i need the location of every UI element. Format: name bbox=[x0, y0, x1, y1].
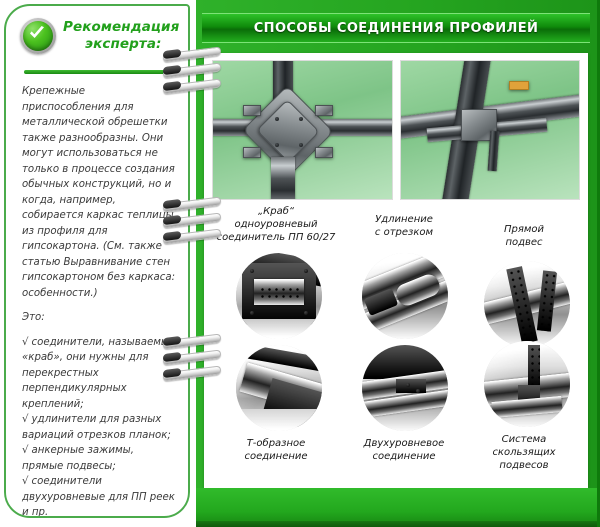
photo-strip bbox=[212, 60, 580, 200]
list-item-text: соединители, называемые «краб», они нужн… bbox=[22, 337, 175, 410]
list-item: √анкерные зажимы, прямые подвесы; bbox=[22, 443, 176, 474]
connection-types-grid: „Краб“ одноуровневый соединитель ПП 60/2… bbox=[204, 205, 588, 488]
panel-title: Рекомендация эксперта: bbox=[63, 16, 179, 53]
grid-item-pryamoy-podves: Прямой подвес bbox=[460, 205, 588, 345]
list-item-text: соединители двухуровневые для ПП реек и … bbox=[22, 476, 175, 518]
spiral-ring bbox=[163, 353, 221, 362]
panel-title-line1: Рекомендация bbox=[63, 19, 179, 36]
spiral-ring bbox=[163, 50, 221, 59]
bullet-list: √соединители, называемые «краб», они нуж… bbox=[22, 335, 176, 519]
list-item-text: анкерные зажимы, прямые подвесы; bbox=[22, 445, 134, 472]
grid-item-image bbox=[362, 253, 448, 339]
list-item-text: удлинители для разных вариаций отрезков … bbox=[22, 414, 171, 441]
grid-item-label: Прямой подвес bbox=[460, 223, 588, 249]
grid-item-label: „Краб“ одноуровневый соединитель ПП 60/2… bbox=[212, 205, 340, 244]
grid-item-sistema-skolzyashchih-podvesov: Система скользящих подвесов bbox=[460, 341, 588, 481]
body-intro: Это: bbox=[22, 310, 176, 326]
section-banner: СПОСОБЫ СОЕДИНЕНИЯ ПРОФИЛЕЙ bbox=[202, 13, 590, 43]
grid-item-label: Т-образное соединение bbox=[212, 437, 340, 463]
spiral-ring bbox=[163, 216, 221, 225]
grid-item-image bbox=[484, 261, 570, 347]
grid-item-label: Удлинение с отрезком bbox=[340, 213, 468, 239]
grid-item-image bbox=[362, 345, 448, 431]
grid-item-udlinenie-s-otrezkom: Удлинение с отрезком bbox=[340, 205, 468, 345]
panel-bottom-bar bbox=[196, 488, 597, 527]
grid-item-dvuhurovnevoe-soedinenie: Двухуровневое соединение bbox=[340, 345, 468, 485]
right-green-panel: СПОСОБЫ СОЕДИНЕНИЯ ПРОФИЛЕЙ bbox=[196, 0, 600, 527]
spiral-ring bbox=[163, 82, 221, 91]
banner-title: СПОСОБЫ СОЕДИНЕНИЯ ПРОФИЛЕЙ bbox=[254, 21, 539, 36]
grid-item-image bbox=[236, 345, 322, 431]
grid-item-krab-odnourovnevyy: „Краб“ одноуровневый соединитель ПП 60/2… bbox=[212, 205, 340, 345]
list-item: √соединители, называемые «краб», они нуж… bbox=[22, 335, 176, 413]
title-divider bbox=[24, 70, 170, 74]
list-item: √удлинители для разных вариаций отрезков… bbox=[22, 412, 176, 443]
check-marker: √ bbox=[22, 476, 32, 487]
list-item: √соединители двухуровневые для ПП реек и… bbox=[22, 474, 176, 518]
grid-item-label: Двухуровневое соединение bbox=[340, 437, 468, 463]
grid-item-t-obraznoe-soedinenie: Т-образное соединение bbox=[212, 345, 340, 485]
profile-joint-photo bbox=[400, 60, 581, 200]
spiral-binding-group-middle bbox=[163, 200, 221, 248]
spiral-binding-group-bottom bbox=[163, 337, 221, 385]
crab-connector-photo bbox=[212, 60, 393, 200]
infographic-page: СПОСОБЫ СОЕДИНЕНИЯ ПРОФИЛЕЙ bbox=[0, 0, 600, 527]
spiral-binding-group-top bbox=[163, 50, 221, 98]
panel-title-line2: эксперта: bbox=[63, 36, 179, 53]
spiral-ring bbox=[163, 66, 221, 75]
spiral-ring bbox=[163, 369, 221, 378]
grid-item-label: Система скользящих подвесов bbox=[460, 433, 588, 472]
check-marker: √ bbox=[22, 414, 32, 425]
spiral-ring bbox=[163, 232, 221, 241]
spiral-ring bbox=[163, 200, 221, 209]
check-circle-icon bbox=[20, 18, 56, 54]
panel-body: Крепежные приспособления для металлическ… bbox=[20, 84, 176, 518]
grid-item-image bbox=[484, 341, 570, 427]
grid-item-image bbox=[236, 253, 322, 339]
content-card: „Краб“ одноуровневый соединитель ПП 60/2… bbox=[204, 53, 588, 488]
spiral-ring bbox=[163, 337, 221, 346]
body-paragraph: Крепежные приспособления для металлическ… bbox=[22, 84, 176, 301]
check-marker: √ bbox=[22, 337, 32, 348]
check-marker: √ bbox=[22, 445, 32, 456]
panel-header: Рекомендация эксперта: bbox=[20, 16, 176, 64]
